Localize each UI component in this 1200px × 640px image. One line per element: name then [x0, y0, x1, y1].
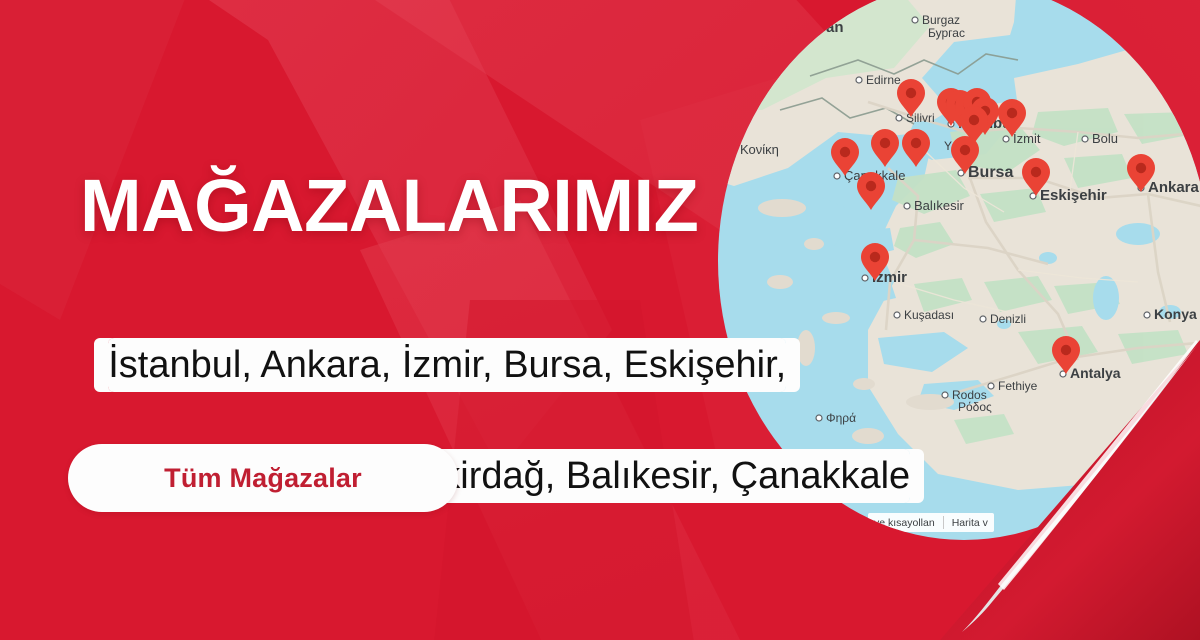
map-city-dot	[1003, 136, 1009, 142]
map-pin-core	[880, 138, 890, 148]
map-pin-core	[906, 88, 916, 98]
map-pin-core	[1031, 167, 1041, 177]
map-city-label: Balıkesir	[914, 198, 965, 213]
map-pin-core	[840, 147, 850, 157]
city-list: İstanbul, Ankara, İzmir, Bursa, Eskişehi…	[66, 283, 996, 560]
map-city-label: Κονίκη	[740, 142, 779, 157]
map-city-label: Bolu	[1092, 131, 1118, 146]
map-city-dot	[1144, 312, 1150, 318]
map-city-label: Antalya	[1070, 365, 1121, 381]
map-city-label: Burgaz	[922, 13, 960, 27]
map-pin-core	[1136, 163, 1146, 173]
map-pin-core	[870, 252, 880, 262]
map-city-label: Bursa	[968, 164, 1013, 181]
map-city-label: İzmit	[1013, 131, 1041, 146]
map-city-label: Fethiye	[998, 379, 1038, 393]
map-city-dot	[912, 17, 918, 23]
city-list-line-1: İstanbul, Ankara, İzmir, Bursa, Eskişehi…	[108, 338, 786, 392]
map-city-label: Eskişehir	[1040, 187, 1107, 204]
map-city-dot	[896, 115, 902, 121]
map-pin-core	[969, 115, 979, 125]
all-stores-button[interactable]: Tüm Mağazalar	[68, 444, 458, 512]
map-city-dot	[1082, 136, 1088, 142]
map-pin-core	[1007, 108, 1017, 118]
map-pin-core	[911, 138, 921, 148]
map-city-label: Бургас	[928, 26, 965, 40]
map-city-dot	[862, 275, 868, 281]
page-title: MAĞAZALARIMIZ	[80, 168, 698, 243]
map-city-label: Ankara	[1148, 179, 1200, 196]
map-pin-core	[960, 145, 970, 155]
map-city-label: Edirne	[866, 73, 901, 87]
map-city-dot	[856, 77, 862, 83]
map-city-label: Konya	[1154, 306, 1197, 322]
map-pin-core	[1061, 345, 1071, 355]
map-city-label: an	[826, 19, 844, 36]
store-locations-banner: ВарнаBurgazБургасanEdirneSilivriΚονίκηİs…	[0, 0, 1200, 640]
map-pin-core	[866, 181, 876, 191]
map-city-dot	[904, 203, 910, 209]
map-city-dot	[834, 173, 840, 179]
